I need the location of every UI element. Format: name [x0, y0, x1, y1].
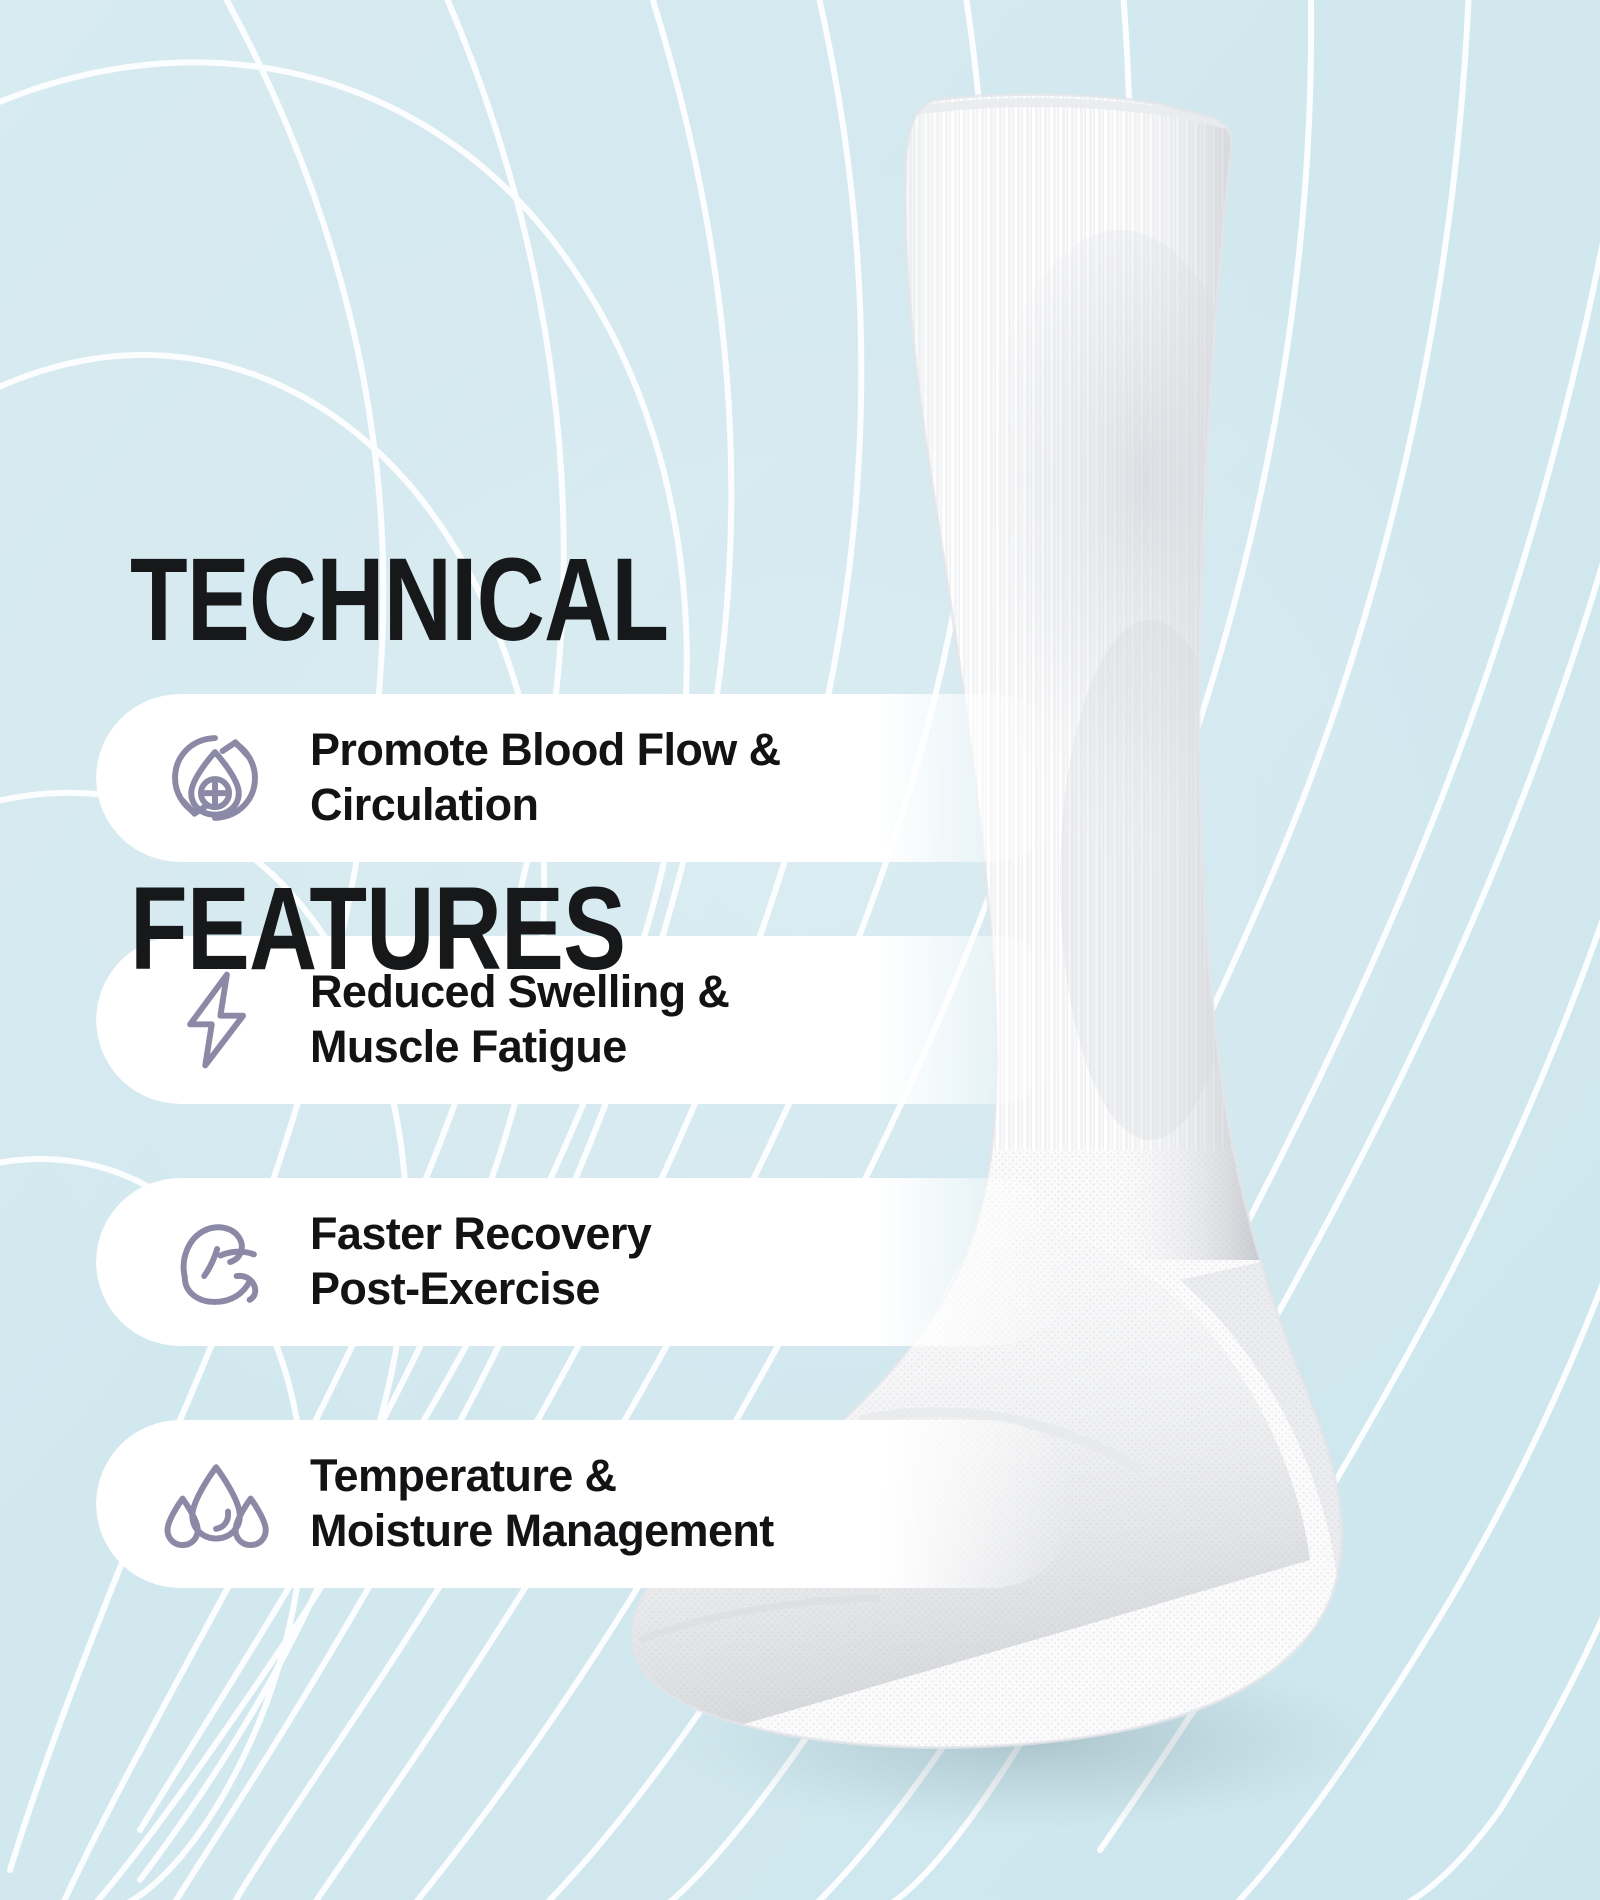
page-title-line-2: FEATURES — [130, 875, 668, 985]
page-title-line-1: TECHNICAL — [130, 546, 668, 656]
feature-card-label: Temperature & Moisture Management — [290, 1449, 1076, 1559]
water-droplets-icon — [140, 1429, 290, 1579]
page-title: TECHNICAL FEATURES — [130, 326, 668, 1204]
feature-card-temperature-moisture[interactable]: Temperature & Moisture Management — [96, 1420, 1076, 1588]
feature-card-label: Faster Recovery Post-Exercise — [290, 1207, 1076, 1317]
technical-features-poster: TECHNICAL FEATURES — [0, 0, 1600, 1900]
